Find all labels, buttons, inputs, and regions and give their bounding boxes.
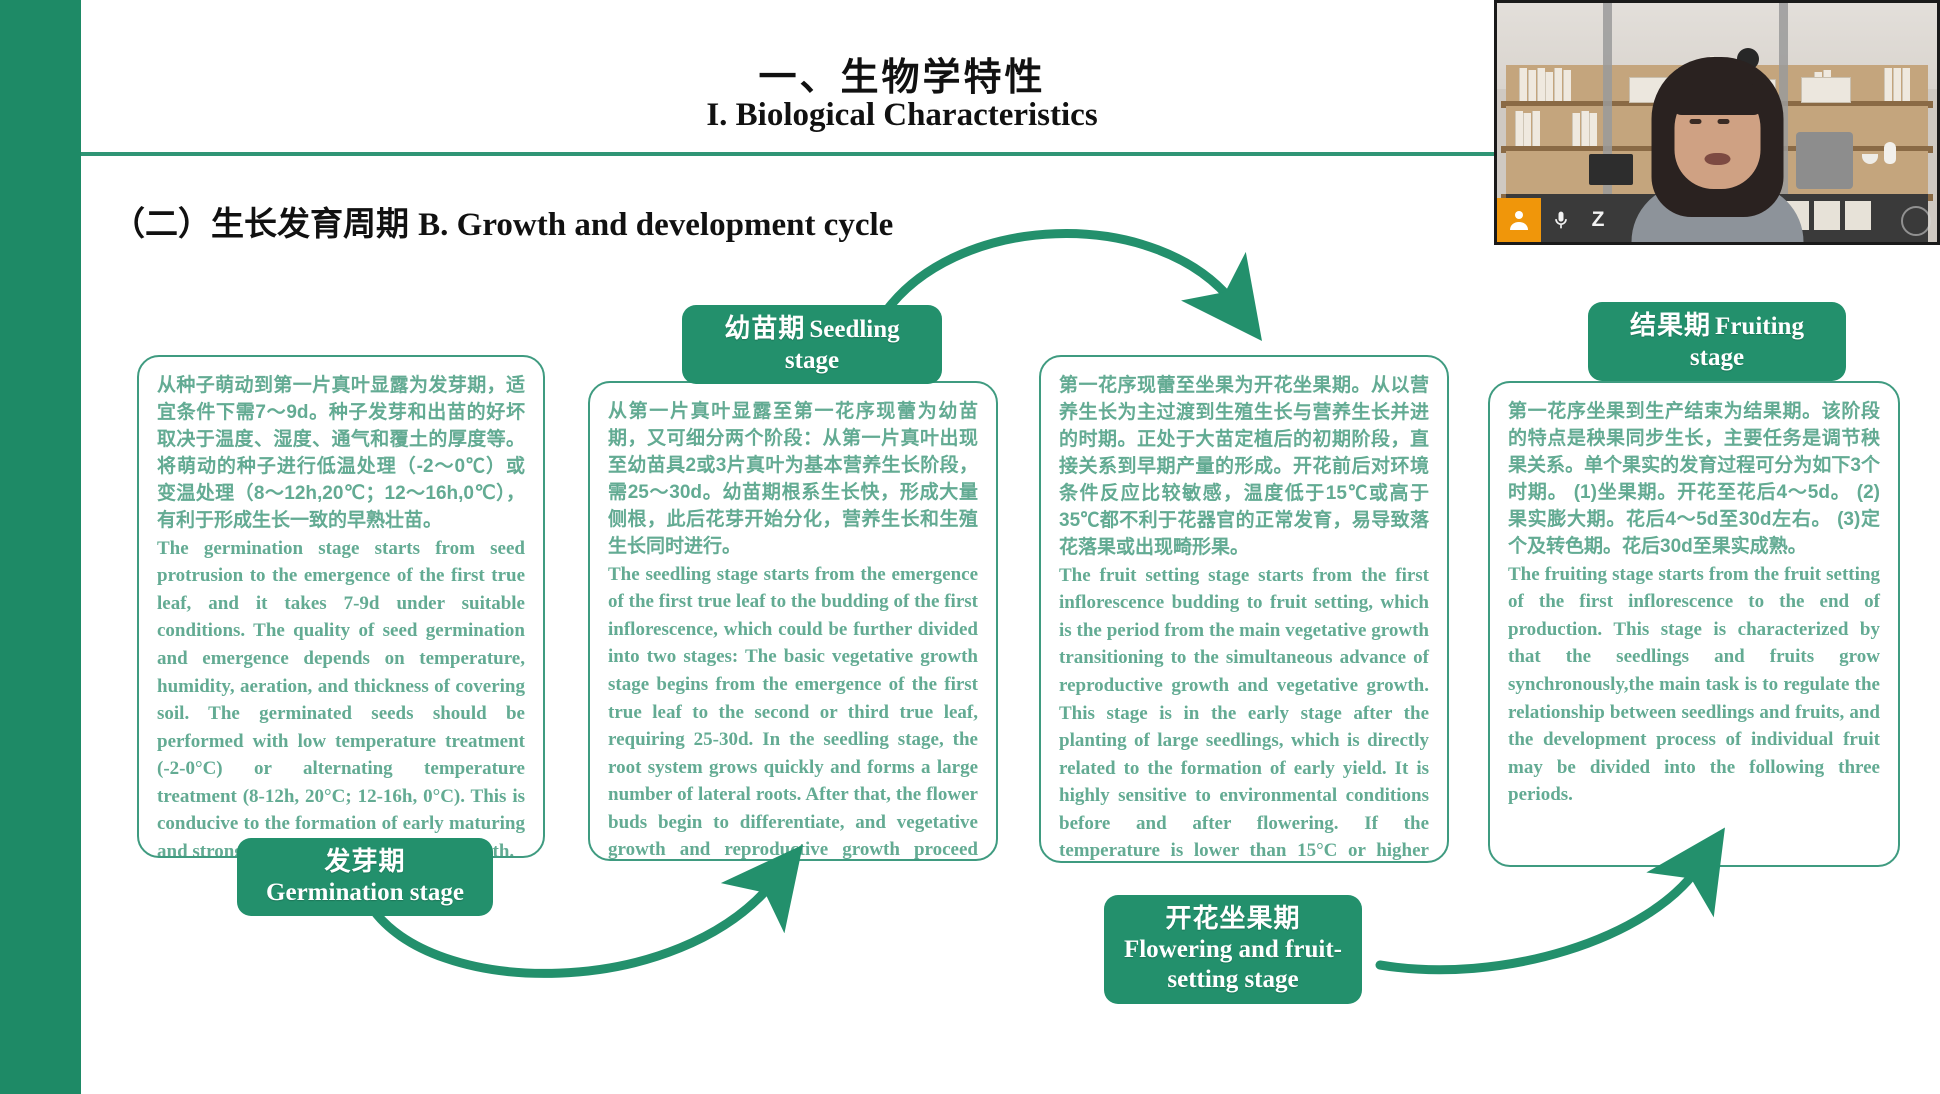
stage-tag-germination-zh: 发芽期 <box>251 846 479 878</box>
section-subtitle-zh: （二）生长发育周期 <box>112 205 418 242</box>
book <box>1532 111 1540 147</box>
book <box>1528 70 1536 101</box>
participant-eye-left <box>1690 119 1702 124</box>
stage-text-zh: 第一花序现蕾至坐果为开花坐果期。从以营养生长为主过渡到生殖生长与营养生长并进的时… <box>1059 373 1429 562</box>
book <box>1537 68 1545 101</box>
stage-tag-fruiting-zh: 结果期 <box>1630 310 1711 340</box>
stage-text-en: The germination stage starts from seed p… <box>157 535 525 858</box>
drawer <box>1845 201 1871 230</box>
stage-text-en: The fruiting stage starts from the fruit… <box>1508 561 1880 809</box>
book <box>1545 72 1553 101</box>
stage-tag-flowering[interactable]: 开花坐果期 Flowering and fruit-setting stage <box>1104 895 1362 1004</box>
stage-text-zh: 从第一片真叶显露至第一花序现蕾为幼苗期，又可细分两个阶段：从第一片真叶出现至幼苗… <box>608 399 978 561</box>
stage-tag-seedling-line: 幼苗期 Seedling stage <box>696 313 928 376</box>
webcam-controls: Z <box>1497 198 1657 242</box>
laptop <box>1589 154 1633 185</box>
stage-card-seedling: 从第一片真叶显露至第一花序现蕾为幼苗期，又可细分两个阶段：从第一片真叶出现至幼苗… <box>588 381 998 861</box>
page-title-zh: 一、生物学特性 <box>162 46 1642 101</box>
stage-text-en: The seedling stage starts from the emerg… <box>608 561 978 861</box>
stage-tag-fruiting-line: 结果期 Fruiting stage <box>1602 310 1832 373</box>
webcam-corner-badge <box>1901 206 1931 236</box>
book <box>1519 68 1527 101</box>
storage-box <box>1801 77 1851 103</box>
book <box>1581 111 1589 147</box>
stage-text-zh: 从种子萌动到第一片真叶显露为发芽期，适宜条件下需7～9d。种子发芽和出苗的好坏取… <box>157 373 525 535</box>
stage-tag-fruiting[interactable]: 结果期 Fruiting stage <box>1588 302 1846 381</box>
monitor <box>1796 132 1853 189</box>
book <box>1572 113 1580 146</box>
stage-tag-flowering-en: Flowering and fruit-setting stage <box>1118 935 1348 996</box>
vase <box>1884 142 1896 164</box>
drawer <box>1814 201 1840 230</box>
presentation-slide: 一、生物学特性 I. Biological Characteristics （二… <box>0 0 1940 1094</box>
z-icon[interactable]: Z <box>1581 208 1615 232</box>
stage-tag-germination-en: Germination stage <box>251 878 479 909</box>
stage-card-fruiting: 第一花序坐果到生产结束为结果期。该阶段的特点是秧果同步生长，主要任务是调节秧果关… <box>1488 381 1900 867</box>
arrow-flowering-to-fruiting <box>1380 865 1700 970</box>
page-title-en: I. Biological Characteristics <box>162 97 1642 134</box>
participant-fringe <box>1671 81 1763 115</box>
stage-tag-seedling-zh: 幼苗期 <box>724 313 805 343</box>
book <box>1902 68 1910 101</box>
book <box>1523 113 1531 146</box>
section-subtitle-en: B. Growth and development cycle <box>418 207 893 243</box>
stage-text-en: The fruit setting stage starts from the … <box>1059 562 1429 863</box>
slide-accent-bar <box>0 0 81 1094</box>
book <box>1563 70 1571 101</box>
book <box>1884 68 1892 101</box>
book <box>1893 68 1901 101</box>
stage-tag-seedling[interactable]: 幼苗期 Seedling stage <box>682 305 942 384</box>
stage-text-zh: 第一花序坐果到生产结束为结果期。该阶段的特点是秧果同步生长，主要任务是调节秧果关… <box>1508 399 1880 561</box>
stage-tag-germination[interactable]: 发芽期 Germination stage <box>237 838 493 916</box>
microphone-icon[interactable] <box>1541 198 1581 242</box>
participant-mouth <box>1704 153 1730 165</box>
stage-card-flowering: 第一花序现蕾至坐果为开花坐果期。从以营养生长为主过渡到生殖生长与营养生长并进的时… <box>1039 355 1449 863</box>
book <box>1515 111 1523 147</box>
book <box>1554 68 1562 101</box>
section-subtitle: （二）生长发育周期 B. Growth and development cycl… <box>112 197 893 245</box>
participant-eye-right <box>1718 119 1730 124</box>
person-icon[interactable] <box>1497 198 1541 242</box>
stage-tag-flowering-zh: 开花坐果期 <box>1118 903 1348 935</box>
stage-card-germination: 从种子萌动到第一片真叶显露为发芽期，适宜条件下需7～9d。种子发芽和出苗的好坏取… <box>137 355 545 858</box>
book <box>1589 113 1597 146</box>
webcam-video-tile[interactable]: Z <box>1494 0 1940 245</box>
